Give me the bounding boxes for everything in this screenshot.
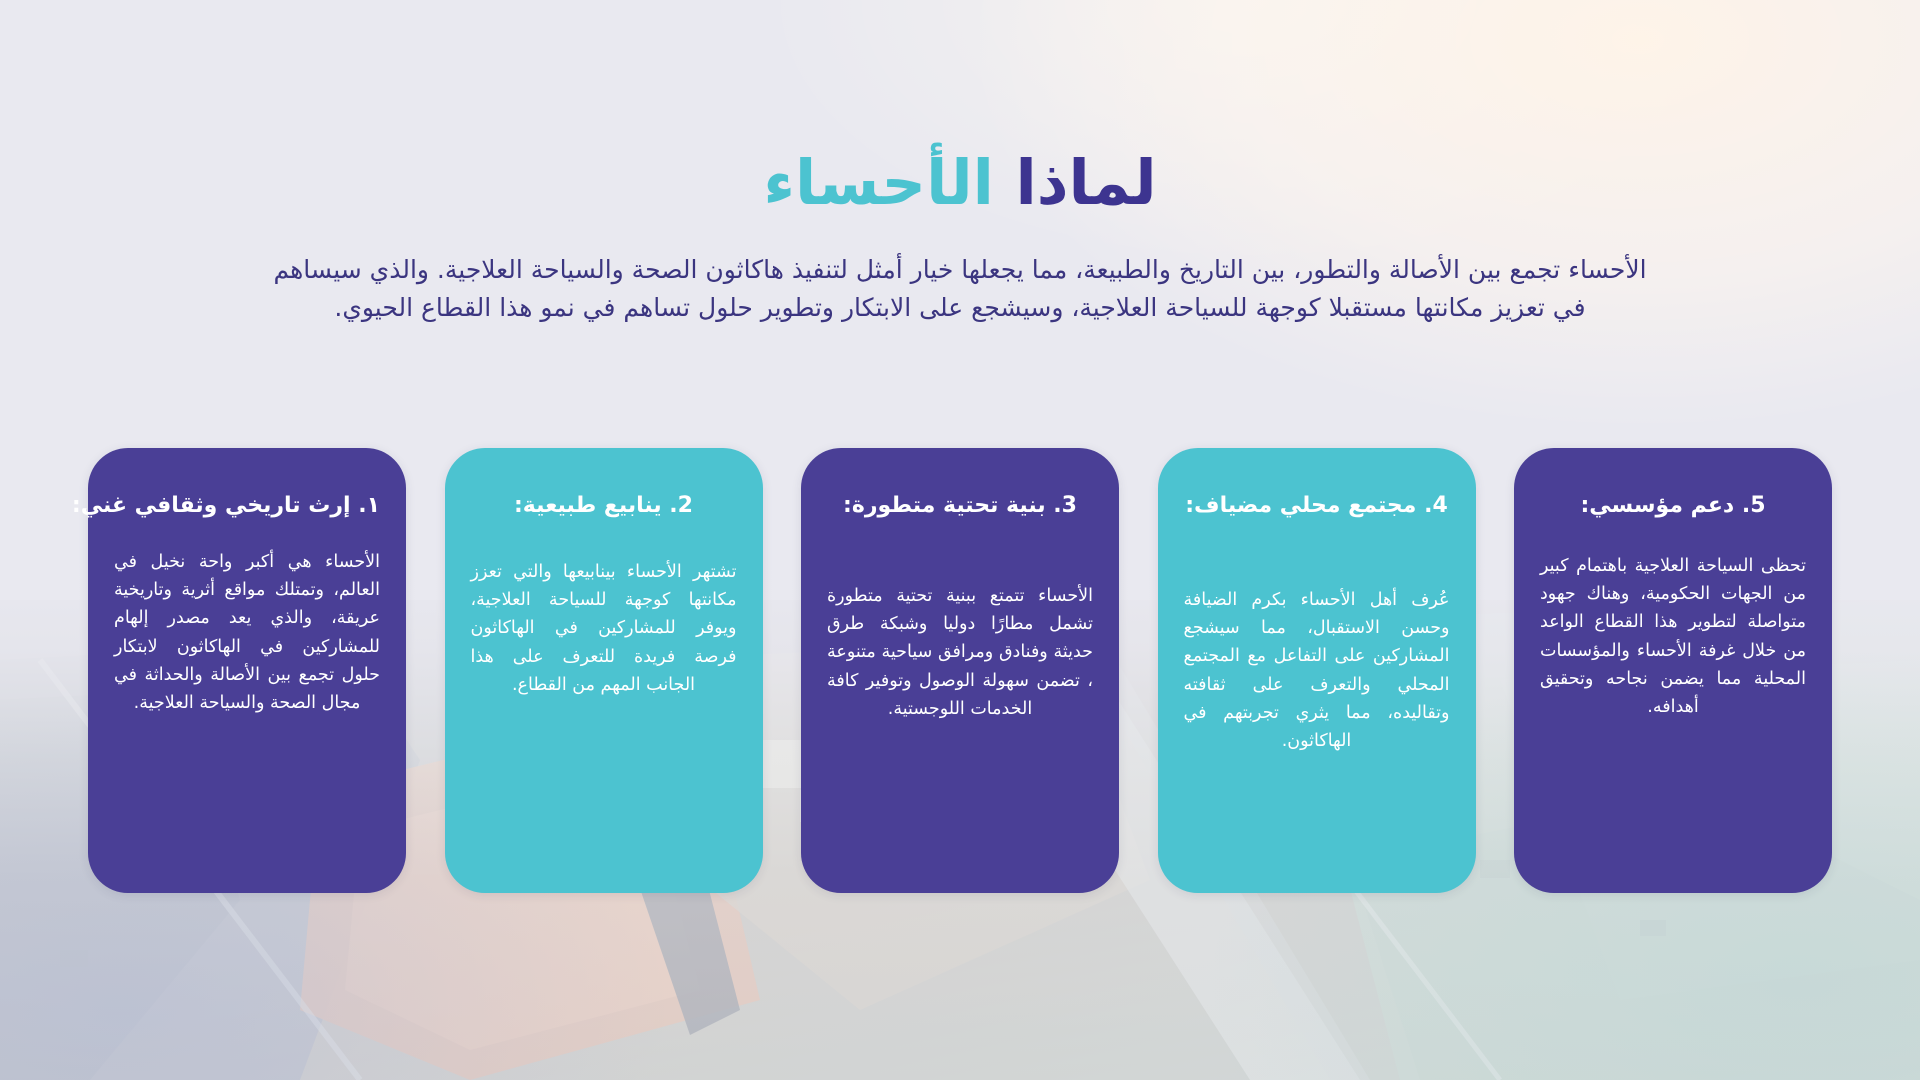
card-natural-springs[interactable]: 2. ينابيع طبيعية: تشتهر الأحساء بينابيعه… bbox=[445, 448, 763, 893]
card-title: 4. مجتمع محلي مضياف: bbox=[1184, 492, 1450, 520]
slide-subtitle: الأحساء تجمع بين الأصالة والتطور، بين ال… bbox=[270, 251, 1650, 327]
card-title: ١. إرث تاريخي وثقافي غني: bbox=[114, 492, 380, 520]
card-body: عُرف أهل الأحساء بكرم الضيافة وحسن الاست… bbox=[1184, 586, 1450, 756]
card-title: 5. دعم مؤسسي: bbox=[1540, 492, 1806, 520]
card-body: الأحساء هي أكبر واحة نخيل في العالم، وتم… bbox=[114, 548, 380, 718]
page-title-primary: لماذا bbox=[1015, 146, 1156, 219]
card-hospitable-community[interactable]: 4. مجتمع محلي مضياف: عُرف أهل الأحساء بك… bbox=[1158, 448, 1476, 893]
card-body: تحظى السياحة العلاجية باهتمام كبير من ال… bbox=[1540, 552, 1806, 722]
card-heritage[interactable]: ١. إرث تاريخي وثقافي غني: الأحساء هي أكب… bbox=[88, 448, 406, 893]
card-body: تشتهر الأحساء بينابيعها والتي تعزز مكانت… bbox=[471, 558, 737, 700]
slide-header: لماذا الأحساء الأحساء تجمع بين الأصالة و… bbox=[0, 0, 1920, 327]
page-title-accent: الأحساء bbox=[763, 146, 994, 219]
slide-root: لماذا الأحساء الأحساء تجمع بين الأصالة و… bbox=[0, 0, 1920, 1080]
card-infrastructure[interactable]: 3. بنية تحتية متطورة: الأحساء تتمتع ببني… bbox=[801, 448, 1119, 893]
card-institutional-support[interactable]: 5. دعم مؤسسي: تحظى السياحة العلاجية باهت… bbox=[1514, 448, 1832, 893]
card-title: 3. بنية تحتية متطورة: bbox=[827, 492, 1093, 520]
cards-row: ١. إرث تاريخي وثقافي غني: الأحساء هي أكب… bbox=[88, 448, 1832, 893]
card-body: الأحساء تتمتع ببنية تحتية متطورة تشمل مط… bbox=[827, 582, 1093, 724]
page-title: لماذا الأحساء bbox=[0, 0, 1920, 215]
card-title: 2. ينابيع طبيعية: bbox=[471, 492, 737, 520]
